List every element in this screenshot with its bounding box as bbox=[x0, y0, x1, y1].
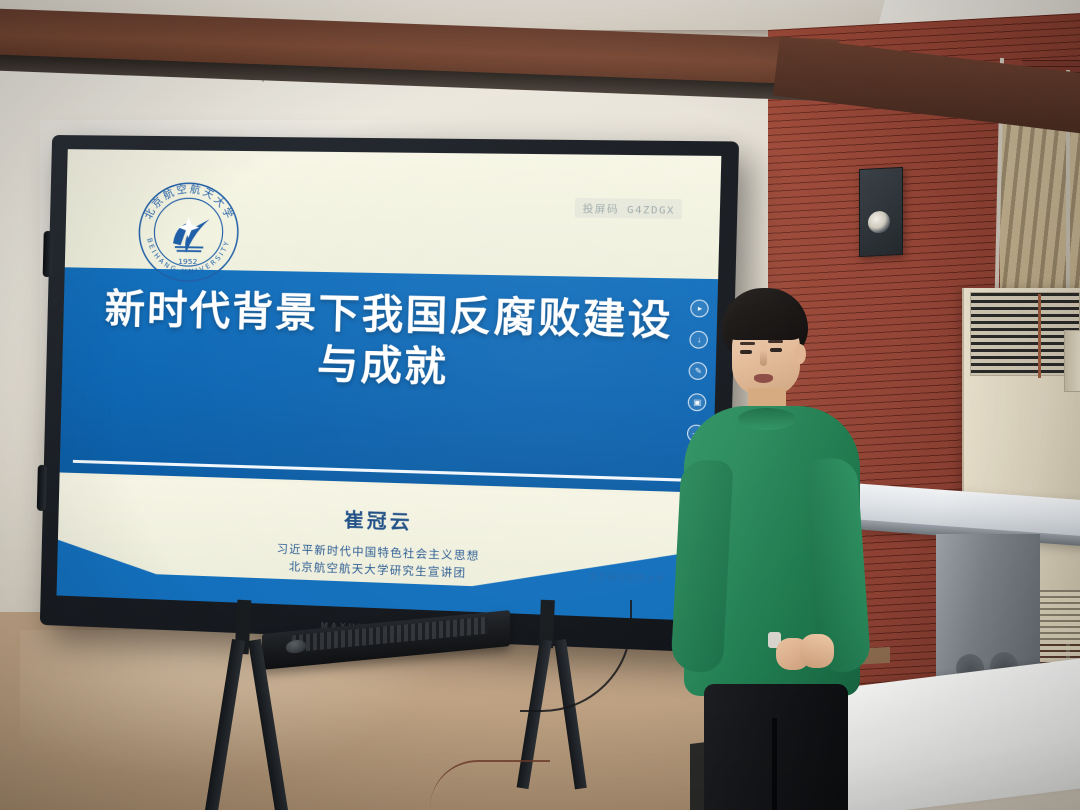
presenter-nose bbox=[760, 350, 767, 366]
presenter-mouth bbox=[754, 374, 773, 383]
beihang-university-logo: 北京航空航天大学 BEIHANG UNIVERSITY 1952 bbox=[130, 174, 246, 289]
display-bezel: 北京航空航天大学 BEIHANG UNIVERSITY 1952 bbox=[40, 135, 739, 653]
speaker-cone-icon bbox=[868, 211, 890, 234]
svg-text:北京航空航天大学: 北京航空航天大学 bbox=[142, 181, 237, 222]
logo-year: 1952 bbox=[178, 256, 197, 265]
presenter-arm-left bbox=[670, 459, 733, 673]
air-conditioner-side-slot bbox=[1064, 330, 1080, 392]
bezel-side-grip-top bbox=[43, 231, 53, 277]
classroom-presentation-photo: 北京航空航天大学 BEIHANG UNIVERSITY 1952 bbox=[0, 0, 1080, 810]
air-conditioner-stripe bbox=[1038, 294, 1041, 378]
wall-speaker bbox=[859, 167, 903, 257]
screen-cast-code: 投屏码 G4ZDGX bbox=[575, 198, 683, 219]
logo-top-text: 北京航空航天大学 bbox=[142, 181, 237, 222]
presenter-fringe bbox=[726, 304, 806, 340]
presenter-collar bbox=[738, 408, 796, 430]
presenter-eye-right bbox=[770, 348, 782, 352]
slide-title: 新时代背景下我国反腐败建设 与成就 bbox=[62, 283, 718, 401]
presentation-slide[interactable]: 北京航空航天大学 BEIHANG UNIVERSITY 1952 bbox=[57, 149, 722, 621]
bezel-side-grip-bottom bbox=[37, 465, 47, 511]
presenter bbox=[676, 288, 866, 810]
display-panel[interactable]: 北京航空航天大学 BEIHANG UNIVERSITY 1952 bbox=[57, 149, 722, 621]
presenter-brow-left bbox=[740, 342, 755, 345]
presenter-leg-gap bbox=[772, 718, 777, 810]
presenter-ear bbox=[794, 344, 806, 364]
presenter-eye-left bbox=[740, 350, 752, 354]
smart-display[interactable]: 北京航空航天大学 BEIHANG UNIVERSITY 1952 bbox=[46, 135, 706, 625]
presenter-hand-right bbox=[800, 634, 834, 668]
presenter-brow-right bbox=[768, 340, 783, 343]
